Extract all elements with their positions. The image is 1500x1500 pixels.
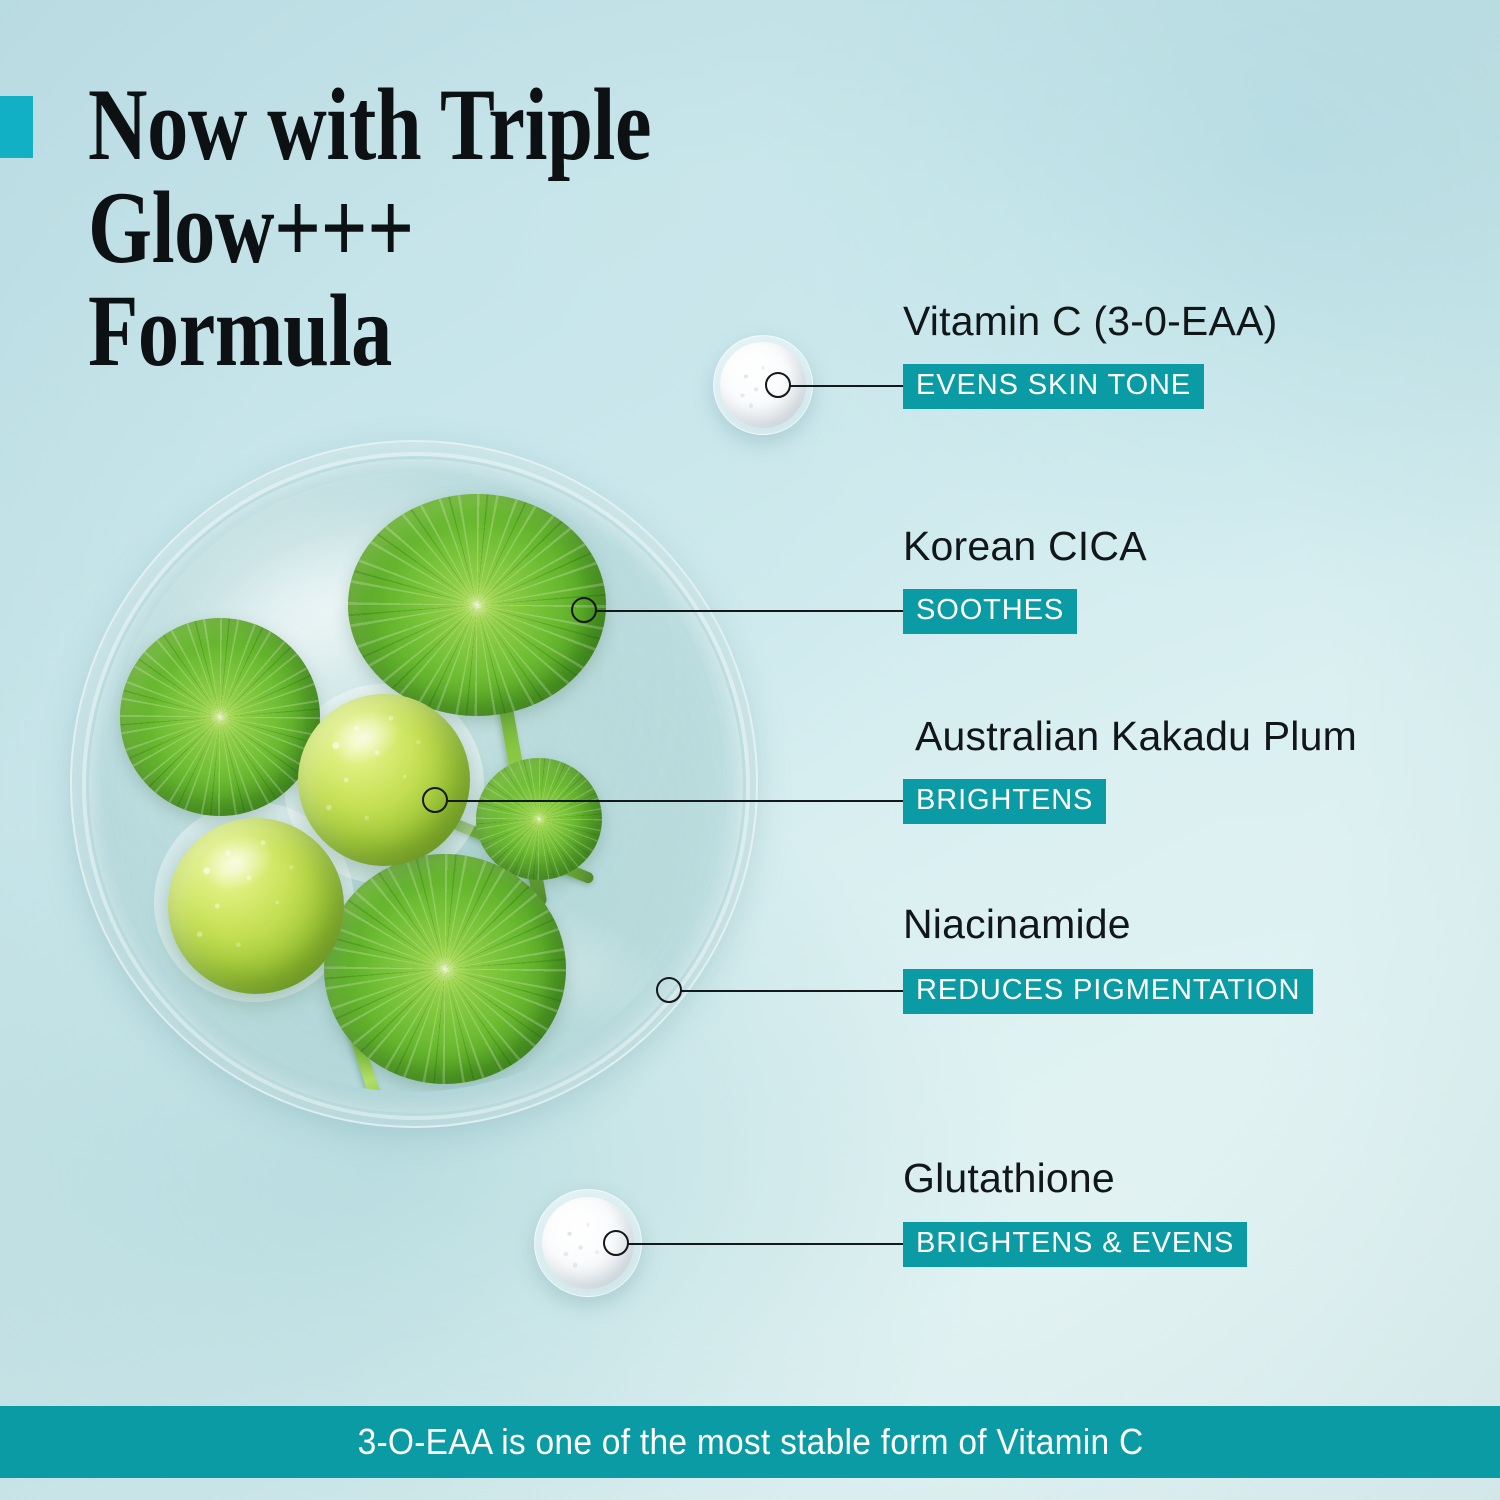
callout-name-niacinamide: Niacinamide: [903, 901, 1131, 948]
footer-banner-text: 3-O-EAA is one of the most stable form o…: [357, 1421, 1143, 1463]
petri-dish-image: [62, 432, 762, 1132]
callout-badge-vitamin-c: EVENS SKIN TONE: [903, 364, 1204, 409]
footer-banner: 3-O-EAA is one of the most stable form o…: [0, 1406, 1500, 1478]
callout-badge-glutathione: BRIGHTENS & EVENS: [903, 1222, 1247, 1267]
callout-dot-glutathione: [603, 1230, 629, 1256]
callout-name-korean-cica: Korean CICA: [903, 523, 1147, 570]
petri-dish-water: [102, 472, 722, 1092]
callout-dot-kakadu-plum: [422, 787, 448, 813]
callout-name-glutathione: Glutathione: [903, 1155, 1115, 1202]
callout-line-kakadu-plum: [447, 800, 903, 802]
callout-badge-korean-cica: SOOTHES: [903, 589, 1077, 634]
green-fruit-upper: [298, 694, 470, 866]
callout-badge-niacinamide: REDUCES PIGMENTATION: [903, 969, 1313, 1014]
callout-dot-korean-cica: [571, 597, 597, 623]
callout-dot-vitamin-c: [765, 372, 791, 398]
headline-accent-bar: [0, 96, 33, 158]
callout-line-niacinamide: [681, 990, 903, 992]
centella-leaf-left: [120, 618, 320, 816]
infographic-canvas: Now with Triple Glow+++ Formula: [0, 0, 1500, 1500]
callout-name-kakadu-plum: Australian Kakadu Plum: [915, 713, 1357, 760]
callout-dot-niacinamide: [656, 977, 682, 1003]
callout-line-korean-cica: [596, 610, 903, 612]
callout-line-glutathione: [628, 1243, 903, 1245]
green-fruit-lower: [168, 818, 344, 994]
callout-line-vitamin-c: [790, 385, 903, 387]
page-title: Now with Triple Glow+++ Formula: [88, 74, 952, 383]
centella-leaf-bottom: [324, 854, 566, 1084]
callout-badge-kakadu-plum: BRIGHTENS: [903, 779, 1106, 824]
centella-leaf-top: [348, 494, 606, 716]
callout-name-vitamin-c: Vitamin C (3-0-EAA): [903, 298, 1277, 345]
